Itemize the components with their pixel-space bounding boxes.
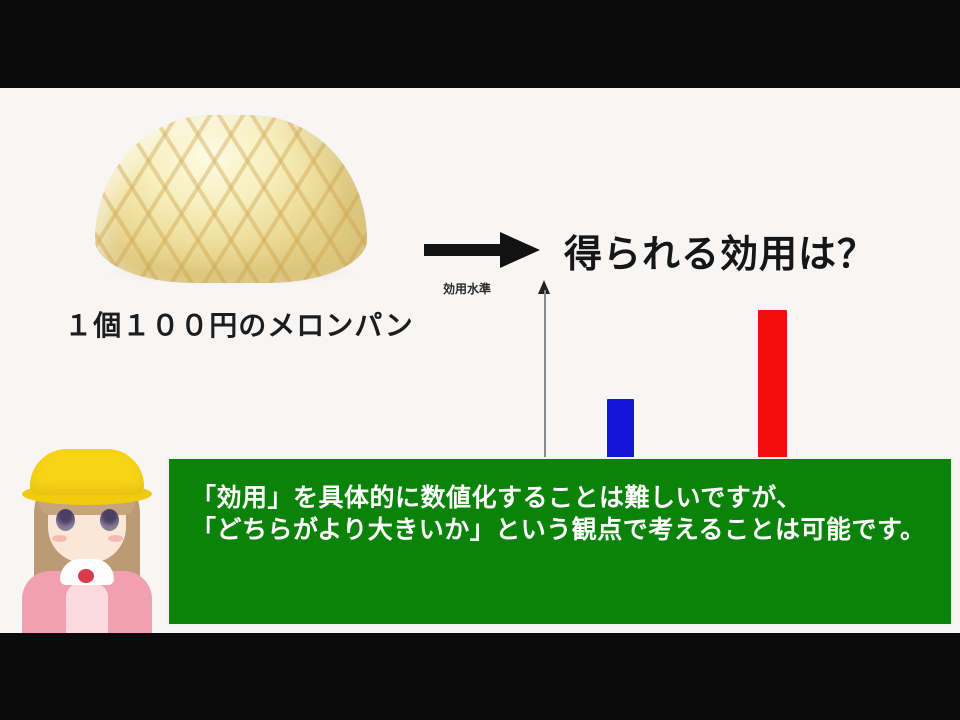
letterbox-bottom [0, 633, 960, 720]
melonpan-image [85, 103, 380, 293]
subtitle-line-2: 「どちらがより大きいか」という観点で考えることは可能です。 [191, 510, 926, 546]
y-axis-line [544, 290, 546, 468]
subtitle-box: 「効用」を具体的に数値化することは難しいですが、 「どちらがより大きいか」という… [167, 457, 953, 626]
narrator-yellow-hat [30, 449, 144, 495]
narrator-blush-left [52, 535, 67, 542]
letterbox-top [0, 0, 960, 88]
melonpan-crosshatch [95, 115, 367, 283]
narrator-blush-right [108, 535, 123, 542]
narrator-eye-right [100, 509, 119, 531]
bar-ordinary-person [607, 399, 634, 466]
narrator-eye-left [56, 509, 75, 531]
video-frame: １個１００円のメロンパン 得られる効用は？ 効用水準 [0, 0, 960, 720]
narrator-body-highlight [66, 583, 108, 633]
bar-melonpan-lover [758, 310, 787, 466]
narrator-character-sprite [8, 443, 166, 633]
utility-bar-chart: 効用水準 ＜ 普通の人 メロンパン好きのちさん [440, 192, 910, 492]
subtitle-line-1: 「効用」を具体的に数値化することは難しいですが、 [191, 478, 802, 514]
slide-content: １個１００円のメロンパン 得られる効用は？ 効用水準 [0, 88, 960, 633]
y-axis-label: 効用水準 [443, 280, 491, 297]
narrator-ribbon [78, 569, 94, 583]
melonpan-caption: １個１００円のメロンパン [24, 304, 454, 344]
